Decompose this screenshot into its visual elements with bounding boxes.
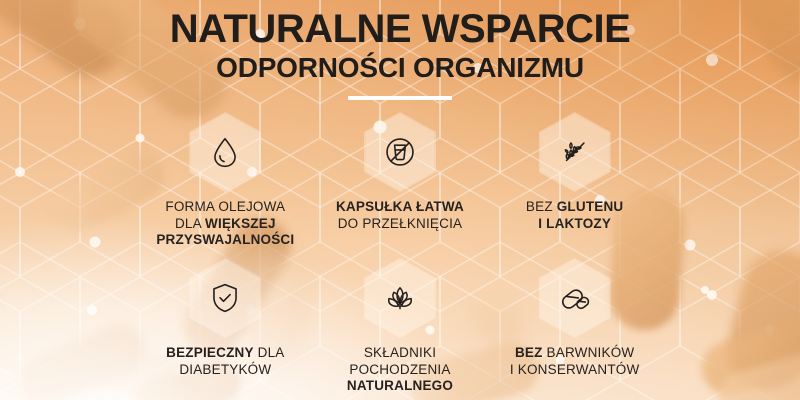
feature-caption: KAPSUŁKA ŁATWA DO PRZEŁKNIĘCIA (336, 199, 464, 232)
caption-line-1-bold: GLUTENU (557, 199, 624, 214)
lotus-flower-icon (383, 281, 417, 315)
caption-line-2: I KONSERWANTÓW (510, 362, 640, 377)
caption-line-2-bold: WIĘKSZEJ (205, 216, 276, 231)
feature-item-oil-form: FORMA OLEJOWA DLA WIĘKSZEJ PRZYSWAJALNOŚ… (138, 112, 313, 258)
caption-line-3-bold: PRZYSWAJALNOŚCI (156, 232, 294, 247)
caption-line-1-plain: BARWNIKÓW (543, 345, 635, 360)
caption-line-1-bold: BEZPIECZNY (166, 345, 254, 360)
droplet-icon (208, 135, 242, 169)
caption-line-1-plain: DLA (254, 345, 285, 360)
hex-badge (189, 112, 261, 192)
caption-line-2-plain: DLA (175, 216, 205, 231)
feature-caption: BEZPIECZNY DLA DIABETYKÓW (166, 345, 284, 378)
hex-badge (539, 258, 611, 338)
hex-badge (539, 112, 611, 192)
feature-item-easy-swallow: KAPSUŁKA ŁATWA DO PRZEŁKNIĘCIA (313, 112, 488, 258)
caption-line-1-bold: BEZ (515, 345, 543, 360)
caption-line-2: POCHODZENIA (349, 362, 450, 377)
shield-check-icon (208, 281, 242, 315)
no-water-glass-icon (383, 135, 417, 169)
feature-item-natural-ingredients: SKŁADNIKI POCHODZENIA NATURALNEGO (313, 258, 488, 400)
page-title-line2: ODPORNOŚCI ORGANIZMU (0, 52, 800, 84)
feature-item-gluten-lactose-free: BEZ GLUTENU I LAKTOZY (487, 112, 662, 258)
caption-line-2-bold: I LAKTOZY (538, 216, 611, 231)
caption-line-3-bold: NATURALNEGO (347, 378, 453, 393)
caption-line-1-plain: BEZ (526, 199, 557, 214)
title-divider (348, 96, 452, 100)
promo-banner: NATURALNE WSPARCIE ODPORNOŚCI ORGANIZMU … (0, 0, 800, 400)
caption-line-1: FORMA OLEJOWA (165, 199, 285, 214)
hex-badge (364, 258, 436, 338)
caption-line-2: DO PRZEŁKNIĘCIA (338, 216, 463, 231)
caption-line-1-bold: KAPSUŁKA ŁATWA (336, 199, 464, 214)
feature-caption: SKŁADNIKI POCHODZENIA NATURALNEGO (347, 345, 453, 395)
banner-header: NATURALNE WSPARCIE ODPORNOŚCI ORGANIZMU (0, 8, 800, 100)
capsules-icon (558, 281, 592, 315)
hex-badge (189, 258, 261, 338)
gluten-free-wheat-icon (558, 135, 592, 169)
capsule-shape (13, 317, 152, 400)
feature-grid: FORMA OLEJOWA DLA WIĘKSZEJ PRZYSWAJALNOŚ… (138, 112, 662, 400)
feature-item-diabetic-safe: BEZPIECZNY DLA DIABETYKÓW (138, 258, 313, 400)
capsule-shape (714, 346, 800, 400)
feature-item-no-colorants: BEZ BARWNIKÓW I KONSERWANTÓW (487, 258, 662, 400)
feature-caption: BEZ GLUTENU I LAKTOZY (526, 199, 623, 232)
capsule-shape (719, 242, 800, 397)
caption-line-1: SKŁADNIKI (364, 345, 436, 360)
feature-caption: FORMA OLEJOWA DLA WIĘKSZEJ PRZYSWAJALNOŚ… (156, 199, 294, 249)
caption-line-2: DIABETYKÓW (179, 362, 271, 377)
hex-badge (364, 112, 436, 192)
feature-caption: BEZ BARWNIKÓW I KONSERWANTÓW (510, 345, 640, 378)
page-title-line1: NATURALNE WSPARCIE (0, 8, 800, 50)
capsule-shape (695, 311, 800, 400)
